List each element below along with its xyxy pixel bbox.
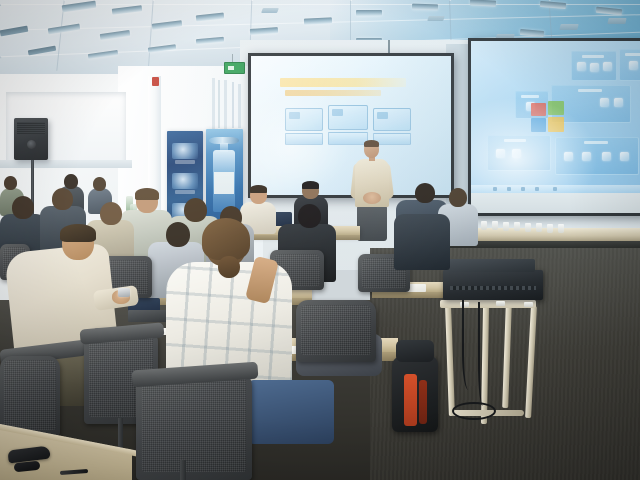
cup xyxy=(503,222,509,231)
desktop-icon xyxy=(600,98,609,107)
speaker-cone-icon xyxy=(27,140,36,149)
taskbar-item xyxy=(535,187,539,191)
exit-sign-icon xyxy=(224,62,245,74)
curtain-strip xyxy=(224,80,227,130)
av-rack-ports xyxy=(450,286,536,290)
chair-front-center[interactable] xyxy=(136,370,252,480)
av-cable xyxy=(462,300,478,390)
ceiling-vent xyxy=(427,16,445,21)
cup xyxy=(547,224,553,233)
backpack-strap xyxy=(419,380,427,424)
attendee-back-head xyxy=(4,176,17,190)
attendee-row3-hair xyxy=(302,181,319,189)
av-rack-unit-top xyxy=(447,259,535,272)
screen-lower-border xyxy=(471,193,640,213)
desktop-panel-label xyxy=(521,95,539,98)
desktop-icon xyxy=(614,98,623,107)
av-cable-coil xyxy=(452,402,496,420)
attendee-row2-head xyxy=(184,198,207,222)
cup xyxy=(536,223,542,232)
desktop-panel xyxy=(619,49,640,81)
desktop-icon xyxy=(620,152,629,161)
curtain-strip xyxy=(232,82,234,128)
projection-screen-left xyxy=(248,53,454,198)
attendee-front-plaid-bun xyxy=(218,256,240,278)
taskbar-item xyxy=(507,187,511,191)
attendee-row2-head xyxy=(298,204,321,228)
desktop-icon xyxy=(603,62,612,71)
attendee-row2-hair xyxy=(135,188,159,200)
ceiling-vent xyxy=(607,18,626,24)
attendee-back-head xyxy=(64,174,78,189)
cup xyxy=(525,223,531,232)
banner-bottle-label xyxy=(214,172,234,194)
desktop-icon xyxy=(590,63,599,72)
conference-room-photo xyxy=(0,0,640,480)
backpack-strap xyxy=(404,374,417,426)
backpack-top xyxy=(396,340,434,362)
av-plug xyxy=(524,302,533,307)
desktop-icon xyxy=(577,62,586,71)
banner-caption xyxy=(175,190,195,194)
desktop-icon xyxy=(602,152,611,161)
laptop-keyboard xyxy=(128,310,170,322)
screen-shading xyxy=(251,56,451,195)
desktop-panel-label xyxy=(625,53,640,56)
desktop-panel-label xyxy=(582,55,604,58)
desktop-panel-label xyxy=(578,89,602,92)
attendee-right-head xyxy=(415,183,435,203)
taskbar-item xyxy=(553,187,557,191)
projector-boom xyxy=(388,40,390,54)
presenter-hair xyxy=(364,140,379,147)
av-plug xyxy=(496,301,505,306)
attendee-row2-head xyxy=(12,196,34,219)
av-cable xyxy=(478,302,490,406)
attendee-front-left-hair xyxy=(60,224,96,242)
attendee-row3-hair xyxy=(250,185,267,193)
taskbar-item xyxy=(521,187,525,191)
curtain-strip xyxy=(238,84,241,128)
curtain-strip xyxy=(218,80,220,128)
projection-screen-right xyxy=(468,38,640,216)
presenter-hands xyxy=(363,192,381,204)
ceiling-light xyxy=(412,4,438,11)
banner-caption xyxy=(175,160,195,164)
chair-right[interactable] xyxy=(296,300,376,362)
banner-product-image xyxy=(172,173,198,189)
av-rack-unit xyxy=(443,270,543,300)
chair-mesh xyxy=(301,305,371,355)
attendee-row2-head xyxy=(166,222,190,247)
attendee-right-front-body xyxy=(394,214,450,270)
chair-leg xyxy=(180,460,186,480)
ceiling-light xyxy=(356,10,382,16)
presenter-legs xyxy=(357,205,387,241)
mobile-phone[interactable] xyxy=(118,288,130,297)
attendee-right-head xyxy=(449,188,467,207)
curtain-strip xyxy=(212,78,215,130)
desktop-icon xyxy=(629,61,638,70)
banner-product-image xyxy=(172,143,198,159)
ceiling-vent xyxy=(559,24,578,30)
attendee-row2-head xyxy=(52,188,73,210)
attendee-front-plaid-jeans xyxy=(248,380,334,444)
attendee-back-head xyxy=(93,177,106,191)
ceiling-vent xyxy=(261,8,279,13)
attendee-front-plaid-hair xyxy=(202,218,250,260)
cup xyxy=(558,224,564,233)
fire-alarm-icon xyxy=(152,77,159,86)
chair-mesh xyxy=(4,360,56,430)
chair-mesh xyxy=(142,376,246,472)
chair-far-left[interactable] xyxy=(0,356,60,436)
cup xyxy=(514,222,520,231)
speaker-grille xyxy=(17,122,45,134)
table-right-edge xyxy=(372,292,448,298)
attendee-row2-head xyxy=(100,202,122,225)
desktop-panel xyxy=(571,51,617,81)
cup xyxy=(481,221,487,230)
cup xyxy=(492,221,498,230)
wall-panel-edge xyxy=(0,160,132,168)
taskbar-item xyxy=(493,187,497,191)
